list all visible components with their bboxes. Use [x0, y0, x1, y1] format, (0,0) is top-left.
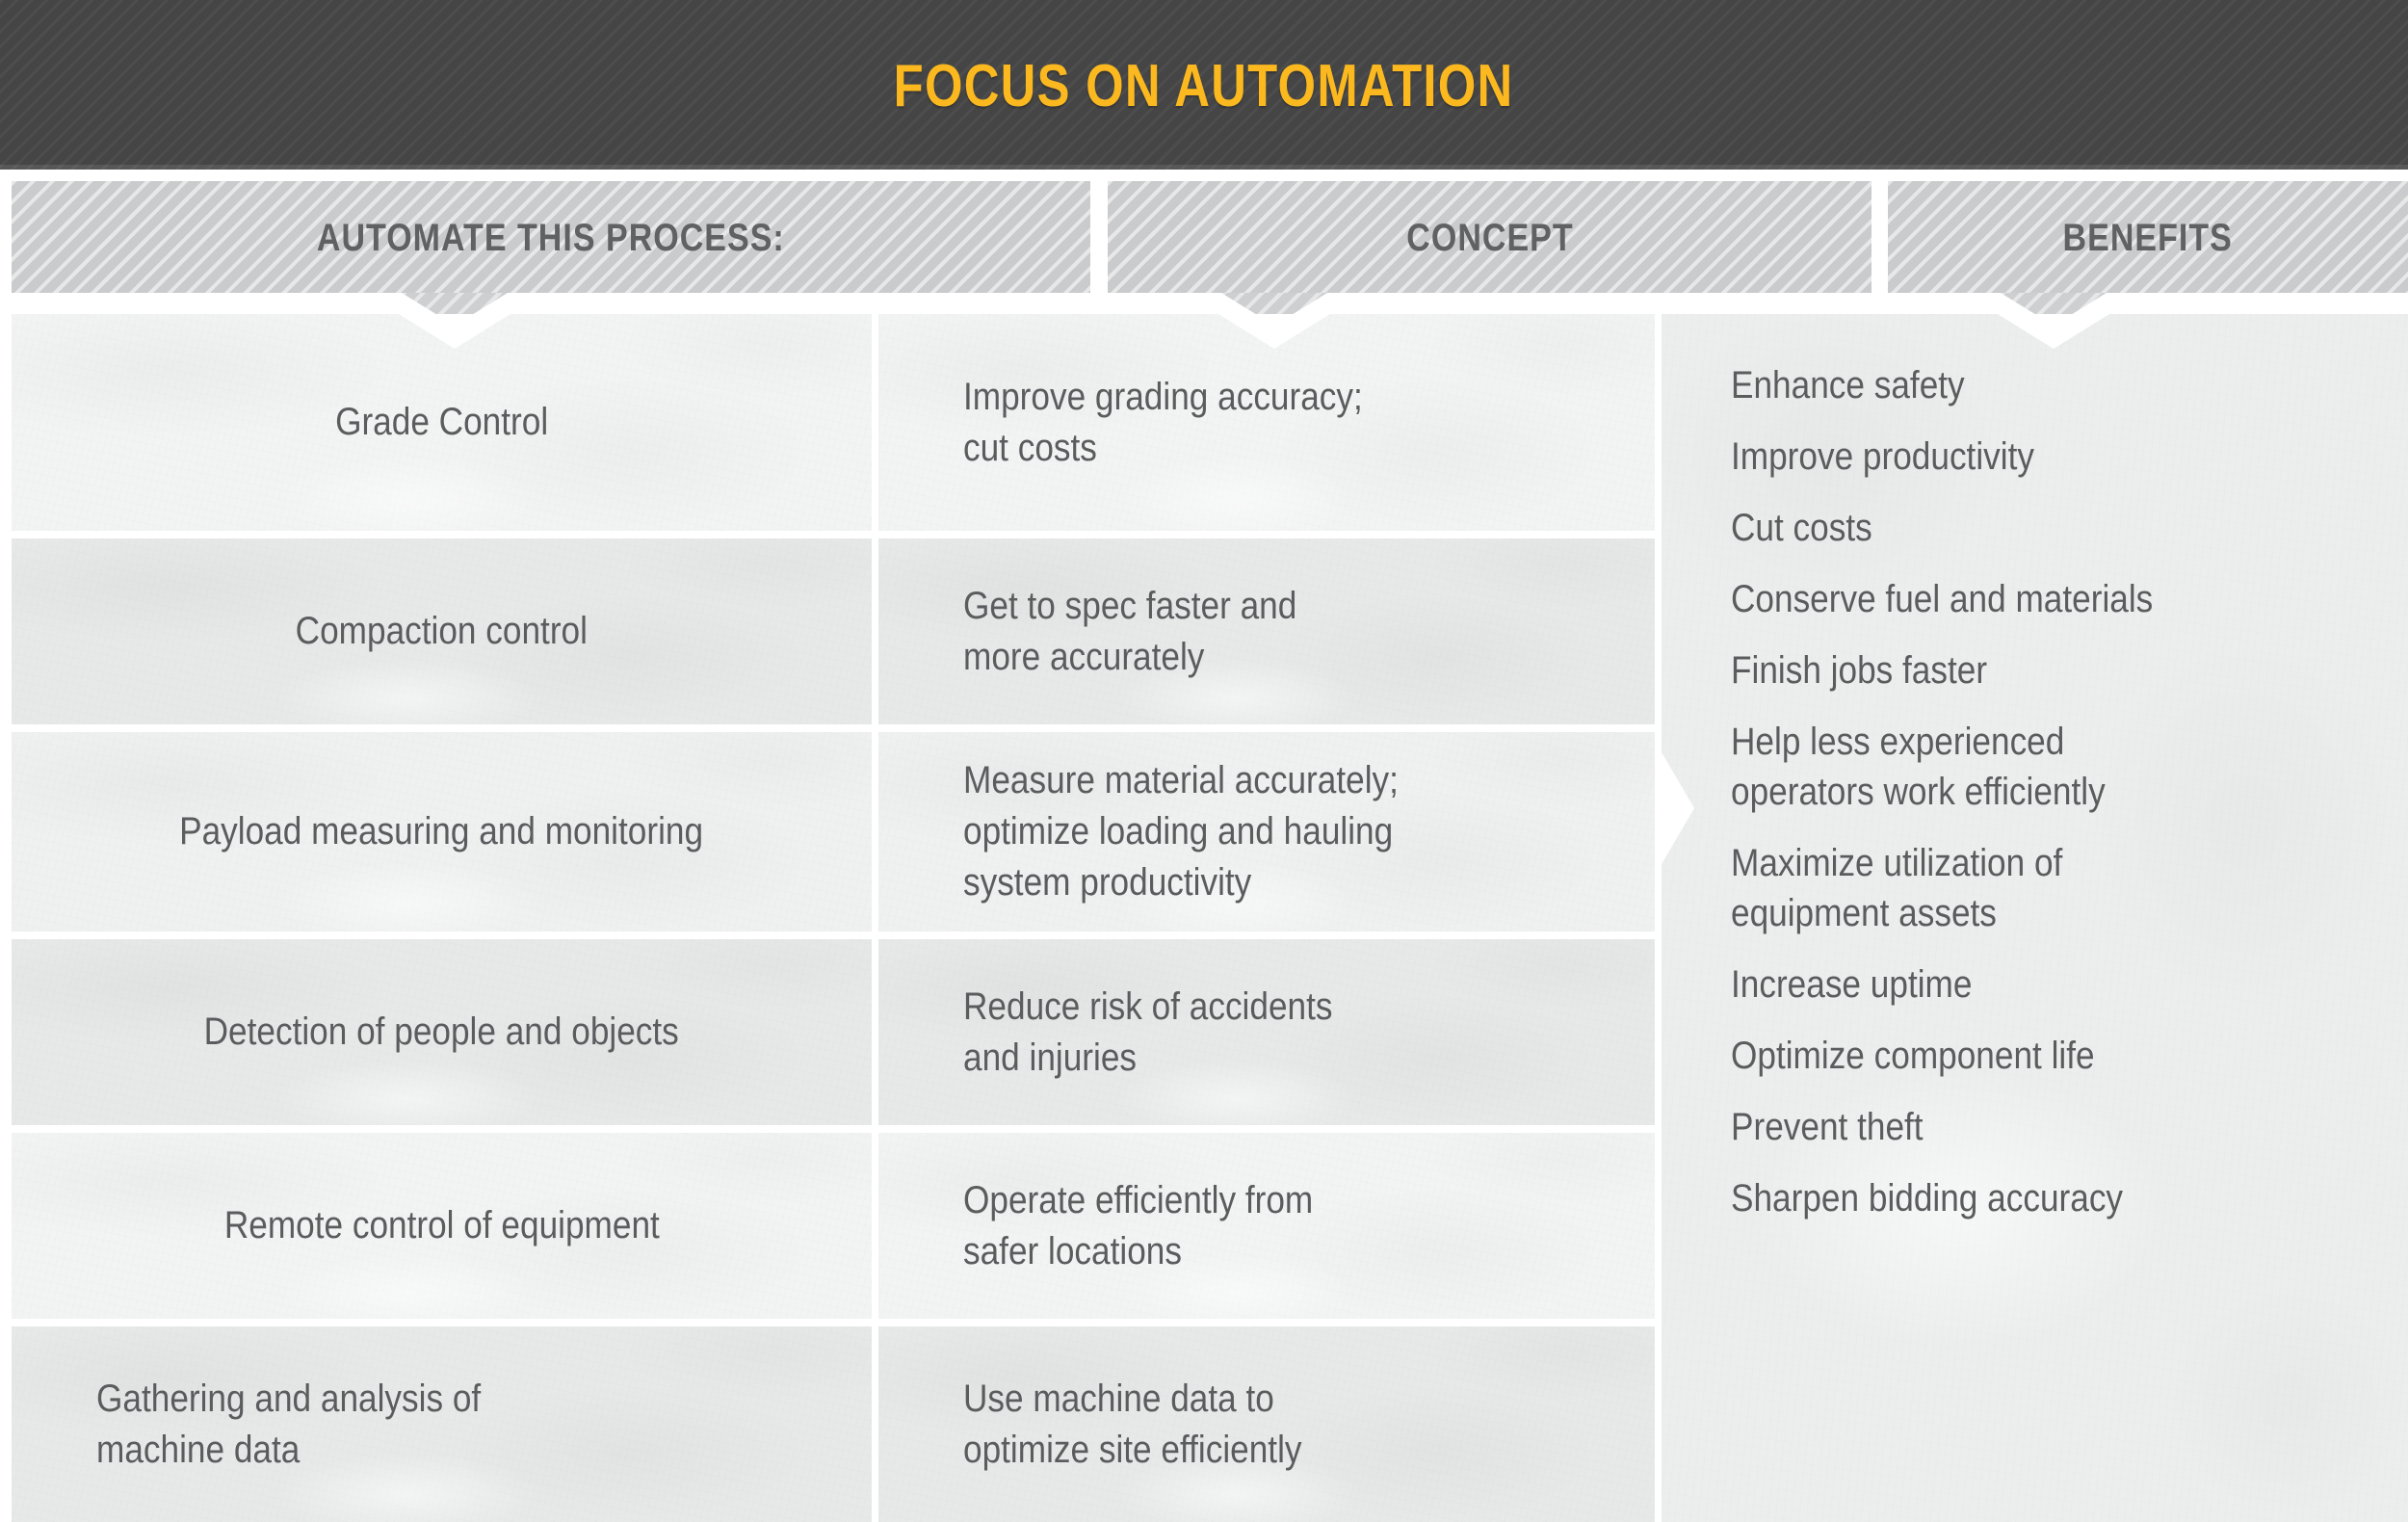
- page-title-bar: FOCUS ON AUTOMATION: [0, 0, 2408, 170]
- process-cell-text: Grade Control: [335, 397, 548, 448]
- column-header-benefits-label: BENEFITS: [2063, 217, 2233, 257]
- list-item: Optimize component life: [1731, 1031, 2327, 1081]
- list-item: Maximize utilization of equipment assets: [1731, 838, 2327, 938]
- column-header-benefits: BENEFITS: [1888, 181, 2408, 293]
- process-cell-text: Compaction control: [296, 606, 588, 657]
- table-row: Grade Control: [12, 314, 872, 531]
- table-row: Payload measuring and monitoring: [12, 732, 872, 932]
- benefits-panel: Enhance safety Improve productivity Cut …: [1662, 314, 2408, 1522]
- list-item: Finish jobs faster: [1731, 645, 2327, 695]
- column-header-process-label: AUTOMATE THIS PROCESS:: [317, 217, 785, 257]
- concept-cell-text: Improve grading accuracy; cut costs: [878, 372, 1363, 474]
- process-cell-text: Detection of people and objects: [204, 1007, 679, 1058]
- list-item: Cut costs: [1731, 503, 2327, 553]
- process-cell-text: Remote control of equipment: [224, 1200, 660, 1251]
- table-body: Grade Control Improve grading accuracy; …: [0, 314, 2408, 1522]
- process-cell-text: Payload measuring and monitoring: [180, 806, 704, 857]
- column-header-concept: CONCEPT: [1108, 181, 1871, 293]
- table-row: Remote control of equipment: [12, 1133, 872, 1319]
- table-row: Gathering and analysis of machine data: [12, 1326, 872, 1522]
- table-row: Compaction control: [12, 538, 872, 724]
- benefits-list: Enhance safety Improve productivity Cut …: [1662, 314, 2408, 1223]
- concept-cell-text: Get to spec faster and more accurately: [878, 581, 1296, 683]
- list-item: Increase uptime: [1731, 959, 2327, 1010]
- concept-cell-text: Use machine data to optimize site effici…: [878, 1374, 1302, 1476]
- table-row: Detection of people and objects: [12, 939, 872, 1125]
- list-item: Conserve fuel and materials: [1731, 574, 2327, 624]
- table-row: Use machine data to optimize site effici…: [878, 1326, 1655, 1522]
- list-item: Prevent theft: [1731, 1102, 2327, 1152]
- concept-cell-text: Operate efficiently from safer locations: [878, 1175, 1313, 1277]
- table-row: Get to spec faster and more accurately: [878, 538, 1655, 724]
- concept-cell-text: Measure material accurately; optimize lo…: [878, 755, 1399, 907]
- page-title: FOCUS ON AUTOMATION: [894, 53, 1514, 117]
- table-row: Operate efficiently from safer locations: [878, 1133, 1655, 1319]
- concept-cell-text: Reduce risk of accidents and injuries: [878, 982, 1332, 1084]
- table-row: Improve grading accuracy; cut costs: [878, 314, 1655, 531]
- list-item: Enhance safety: [1731, 360, 2327, 410]
- list-item: Sharpen bidding accuracy: [1731, 1173, 2327, 1223]
- column-header-concept-label: CONCEPT: [1406, 217, 1573, 257]
- list-item: Improve productivity: [1731, 432, 2327, 482]
- table-row: Measure material accurately; optimize lo…: [878, 732, 1655, 932]
- list-item: Help less experienced operators work eff…: [1731, 717, 2327, 817]
- table-row: Reduce risk of accidents and injuries: [878, 939, 1655, 1125]
- column-header-row: AUTOMATE THIS PROCESS: CONCEPT BENEFITS: [0, 181, 2408, 297]
- column-header-process: AUTOMATE THIS PROCESS:: [12, 181, 1090, 293]
- process-cell-text: Gathering and analysis of machine data: [12, 1374, 481, 1476]
